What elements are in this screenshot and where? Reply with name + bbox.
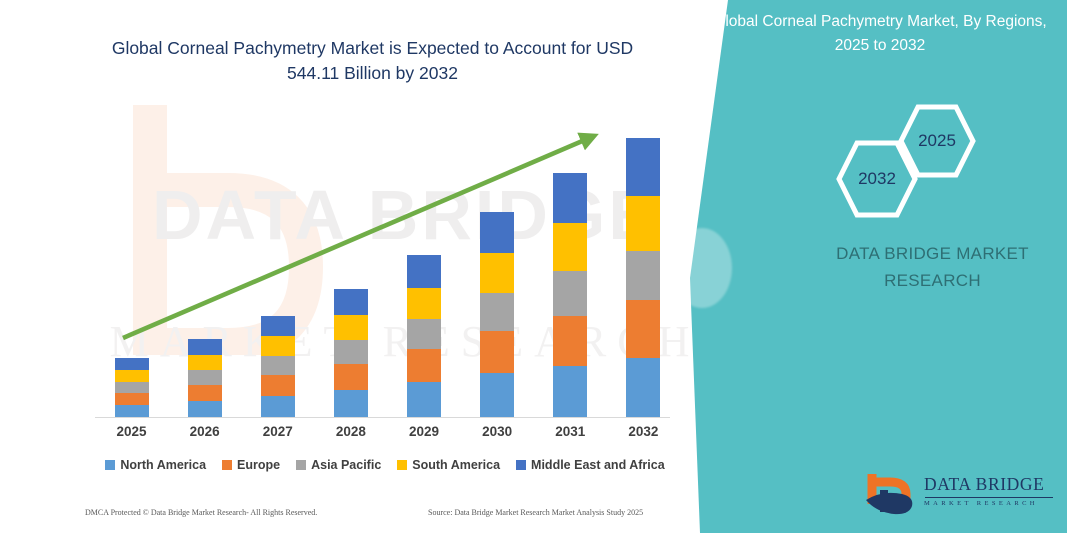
logo-sub-text: MARKET RESEARCH bbox=[924, 500, 1053, 507]
bar-segment bbox=[115, 358, 149, 370]
bar-segment bbox=[261, 356, 295, 375]
footer-source: Source: Data Bridge Market Research Mark… bbox=[428, 508, 643, 517]
bar-segment bbox=[261, 336, 295, 356]
hexagon-badge-2032: 2032 bbox=[836, 140, 918, 218]
bar-segment bbox=[407, 319, 441, 349]
bar-segment bbox=[115, 393, 149, 405]
panel-brand-line1: DATA BRIDGE MARKET bbox=[790, 240, 1067, 267]
bar-2027 bbox=[261, 316, 295, 418]
bar-segment bbox=[334, 340, 368, 364]
legend-swatch bbox=[222, 460, 232, 470]
legend-label: South America bbox=[412, 458, 500, 472]
panel-brand-name: DATA BRIDGE MARKET RESEARCH bbox=[790, 240, 1067, 294]
bar-segment bbox=[334, 315, 368, 340]
bar-segment bbox=[407, 349, 441, 382]
bar-segment bbox=[626, 251, 660, 300]
legend-swatch bbox=[516, 460, 526, 470]
legend-swatch bbox=[296, 460, 306, 470]
bar-2032 bbox=[626, 138, 660, 418]
bar-segment bbox=[261, 316, 295, 336]
bar-segment bbox=[553, 173, 587, 223]
bar-2028 bbox=[334, 289, 368, 418]
bar-chart-plot bbox=[95, 120, 680, 418]
bar-segment bbox=[407, 382, 441, 418]
x-axis-labels: 20252026202720282029203020312032 bbox=[95, 424, 680, 444]
bar-segment bbox=[626, 358, 660, 418]
logo-divider bbox=[925, 497, 1053, 498]
x-axis-label-2026: 2026 bbox=[175, 424, 235, 439]
x-axis-label-2027: 2027 bbox=[248, 424, 308, 439]
bar-segment bbox=[334, 289, 368, 315]
bar-segment bbox=[553, 316, 587, 366]
legend-label: Asia Pacific bbox=[311, 458, 381, 472]
panel-title: Global Corneal Pachymetry Market, By Reg… bbox=[700, 10, 1060, 58]
legend-swatch bbox=[105, 460, 115, 470]
x-axis-line bbox=[95, 417, 670, 418]
bar-segment bbox=[188, 355, 222, 370]
bar-segment bbox=[480, 253, 514, 293]
legend-item[interactable]: North America bbox=[105, 458, 206, 472]
x-axis-label-2025: 2025 bbox=[102, 424, 162, 439]
panel-edge-highlight bbox=[672, 228, 732, 308]
bar-segment bbox=[626, 196, 660, 251]
data-bridge-logo-text: DATA BRIDGE MARKET RESEARCH bbox=[924, 474, 1053, 507]
bar-2031 bbox=[553, 173, 587, 418]
legend-item[interactable]: Middle East and Africa bbox=[516, 458, 665, 472]
bar-segment bbox=[626, 300, 660, 358]
infographic-canvas: DATA BRIDGE MARKET RESEARCH Global Corne… bbox=[0, 0, 1067, 533]
trend-arrow-icon bbox=[95, 120, 680, 418]
bar-2029 bbox=[407, 255, 441, 418]
bar-segment bbox=[115, 370, 149, 382]
data-bridge-logo-icon bbox=[862, 470, 920, 516]
bar-segment bbox=[553, 271, 587, 316]
logo-main-text: DATA BRIDGE bbox=[924, 474, 1053, 495]
legend-label: Middle East and Africa bbox=[531, 458, 665, 472]
bar-segment bbox=[480, 373, 514, 418]
bar-segment bbox=[261, 375, 295, 396]
x-axis-label-2031: 2031 bbox=[540, 424, 600, 439]
bar-segment bbox=[261, 396, 295, 418]
bar-segment bbox=[407, 288, 441, 319]
bar-segment bbox=[407, 255, 441, 288]
x-axis-label-2030: 2030 bbox=[467, 424, 527, 439]
bar-2025 bbox=[115, 358, 149, 418]
footer-copyright: DMCA Protected © Data Bridge Market Rese… bbox=[85, 508, 317, 517]
x-axis-label-2032: 2032 bbox=[613, 424, 673, 439]
bar-2030 bbox=[480, 212, 514, 418]
bar-segment bbox=[626, 138, 660, 196]
data-bridge-logo: DATA BRIDGE MARKET RESEARCH bbox=[862, 470, 1062, 522]
chart-legend: North AmericaEuropeAsia PacificSouth Ame… bbox=[95, 456, 675, 474]
bar-segment bbox=[480, 331, 514, 373]
bar-2026 bbox=[188, 339, 222, 418]
legend-label: North America bbox=[120, 458, 206, 472]
bar-segment bbox=[115, 382, 149, 393]
bar-segment bbox=[480, 212, 514, 253]
bar-segment bbox=[553, 366, 587, 418]
bar-segment bbox=[188, 385, 222, 401]
legend-item[interactable]: South America bbox=[397, 458, 500, 472]
bar-segment bbox=[334, 390, 368, 418]
panel-brand-line2: RESEARCH bbox=[790, 267, 1067, 294]
footer: DMCA Protected © Data Bridge Market Rese… bbox=[0, 508, 700, 522]
bar-segment bbox=[188, 370, 222, 385]
x-axis-label-2028: 2028 bbox=[321, 424, 381, 439]
bar-segment bbox=[188, 401, 222, 418]
legend-swatch bbox=[397, 460, 407, 470]
legend-item[interactable]: Asia Pacific bbox=[296, 458, 381, 472]
legend-label: Europe bbox=[237, 458, 280, 472]
chart-title: Global Corneal Pachymetry Market is Expe… bbox=[90, 36, 655, 86]
hexagon-badge-2032-label: 2032 bbox=[836, 169, 918, 189]
x-axis-label-2029: 2029 bbox=[394, 424, 454, 439]
bar-segment bbox=[334, 364, 368, 390]
bar-segment bbox=[188, 339, 222, 355]
bar-segment bbox=[553, 223, 587, 271]
bar-segment bbox=[480, 293, 514, 331]
legend-item[interactable]: Europe bbox=[222, 458, 280, 472]
